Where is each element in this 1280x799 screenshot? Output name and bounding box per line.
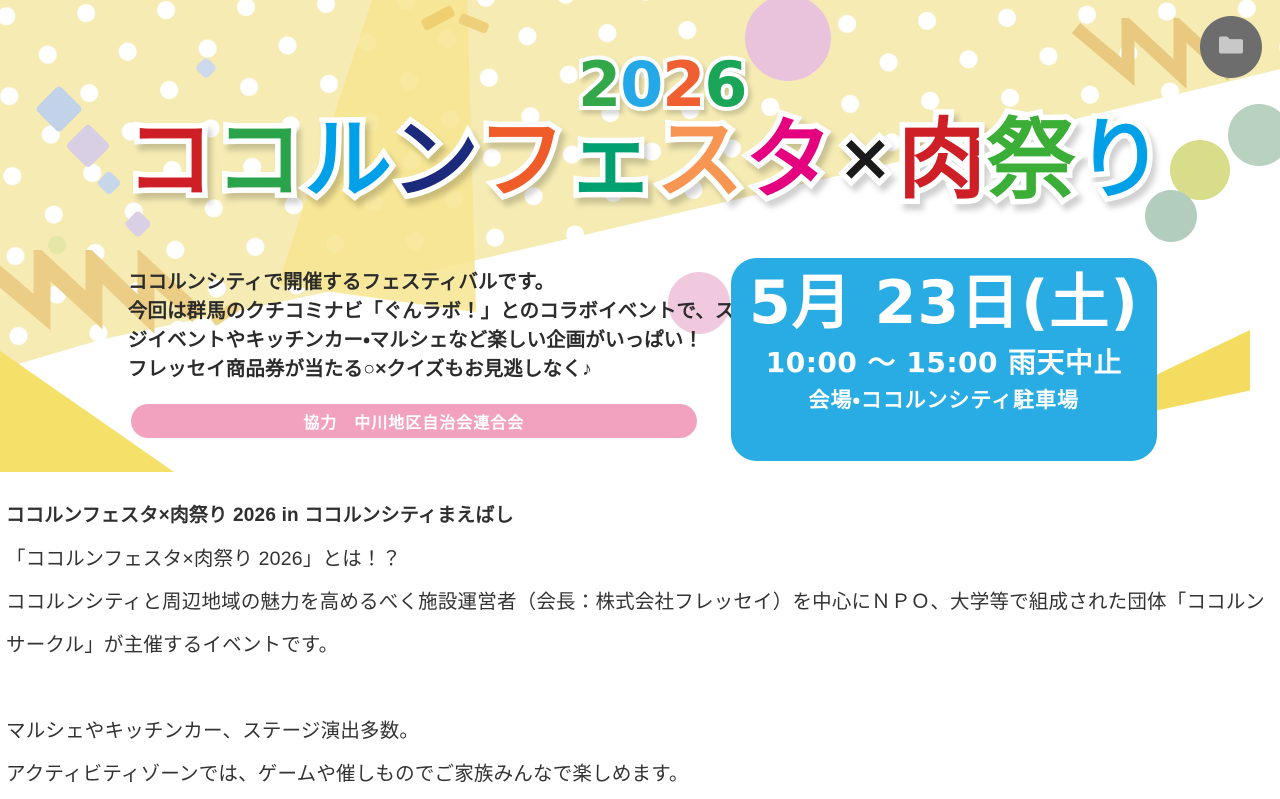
confetti-strip-a (415, 2, 505, 50)
article-heading: ココルンフェスタ×肉祭り 2026 in ココルンシティまえばし (6, 494, 1274, 538)
poster-description-line: ジイベントやキッチンカー・マルシェなど楽しい企画がいっぱい！ (128, 326, 728, 355)
cooperation-badge-label: 協力 中川地区自治会連合会 (303, 409, 524, 433)
wordmark-char: ス (656, 108, 745, 211)
article-paragraph: アクティビティゾーンでは、ゲームや催しものでご家族みんなで楽しめます。 (6, 753, 1274, 796)
wordmark-char: り (1076, 108, 1165, 211)
cooperation-badge: 協力 中川地区自治会連合会 (131, 404, 697, 438)
page-root: 2026 ココルンフェスタ×肉祭り ココルンシティで開催するフェスティバルです。… (0, 0, 1280, 799)
wordmark-char: ン (391, 108, 477, 211)
poster-description: ココルンシティで開催するフェスティバルです。今回は群馬のクチコミナビ「ぐんラボ！… (128, 268, 728, 384)
poster-description-line: フレッセイ商品券が当たる○×クイズもお見逃しなく♪ (128, 355, 728, 384)
article-body: ココルンフェスタ×肉祭り 2026 in ココルンシティまえばし 「ココルンフェ… (0, 472, 1280, 796)
article-paragraph-list: 「ココルンフェスタ×肉祭り 2026」とは！？ココルンシティと周辺地域の魅力を高… (6, 538, 1274, 796)
poster-description-line: 今回は群馬のクチコミナビ「ぐんラボ！」とのコラボイベントで、ステー (128, 297, 728, 326)
event-venue: 会場・ココルンシティ駐車場 (731, 384, 1157, 418)
event-date: 5月 23日(土) (731, 264, 1157, 342)
article-paragraph: マルシェやキッチンカー、ステージ演出多数。 (6, 710, 1274, 753)
poster-title-wordmark: ココルンフェスタ×肉祭り (126, 116, 1165, 204)
article-paragraph: 「ココルンフェスタ×肉祭り 2026」とは！？ (6, 538, 1274, 581)
folder-icon (1217, 33, 1245, 62)
article-paragraph: ココルンシティと周辺地域の魅力を高めるべく施設運営者（会長：株式会社フレッセイ）… (6, 581, 1274, 667)
event-time: 10:00 ～ 15:00 雨天中止 (731, 342, 1157, 384)
wordmark-char: ェ (567, 108, 656, 211)
wordmark-char: フ (478, 108, 567, 211)
event-poster-image: 2026 ココルンフェスタ×肉祭り ココルンシティで開催するフェスティバルです。… (0, 0, 1280, 472)
poster-description-line: ココルンシティで開催するフェスティバルです。 (128, 268, 728, 297)
wordmark-char: コ (126, 108, 215, 211)
wordmark-char: × (834, 119, 898, 196)
article-spacer (6, 667, 1274, 710)
event-date-card: 5月 23日(土) 10:00 ～ 15:00 雨天中止 会場・ココルンシティ駐… (731, 258, 1157, 461)
decor-circle-sage (1228, 104, 1280, 166)
wordmark-char: ル (304, 108, 391, 211)
wordmark-char: タ (745, 108, 834, 211)
folder-button[interactable] (1200, 16, 1262, 78)
wordmark-char: コ (215, 108, 304, 211)
wordmark-char: 祭 (987, 108, 1076, 211)
decor-circle-lime-2 (48, 236, 66, 254)
wordmark-char: 肉 (898, 108, 987, 211)
